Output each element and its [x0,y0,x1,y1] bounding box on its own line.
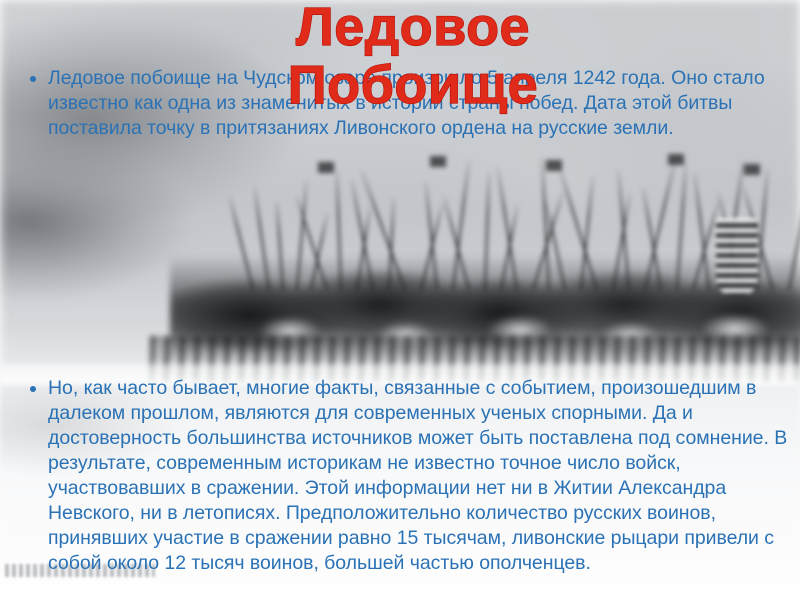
banner-pennant-icon [744,164,760,175]
banner-pennant-icon [546,160,562,171]
presentation-slide: Ледовое побоище на Чудском озере произош… [0,0,800,600]
banner-pennant-icon [318,162,334,173]
bullet-text-2: Но, как часто бывает, многие факты, связ… [48,376,794,576]
bullet-list-item-2: Но, как часто бывает, многие факты, связ… [26,376,794,576]
bullet-marker-icon [26,66,48,141]
banner-pennant-icon [668,154,684,165]
banner-pennant-icon [430,156,446,167]
bullet-marker-icon [26,376,48,576]
slide-title: Ледовое Побоище [248,0,578,114]
chevron-shield-icon [716,218,758,296]
